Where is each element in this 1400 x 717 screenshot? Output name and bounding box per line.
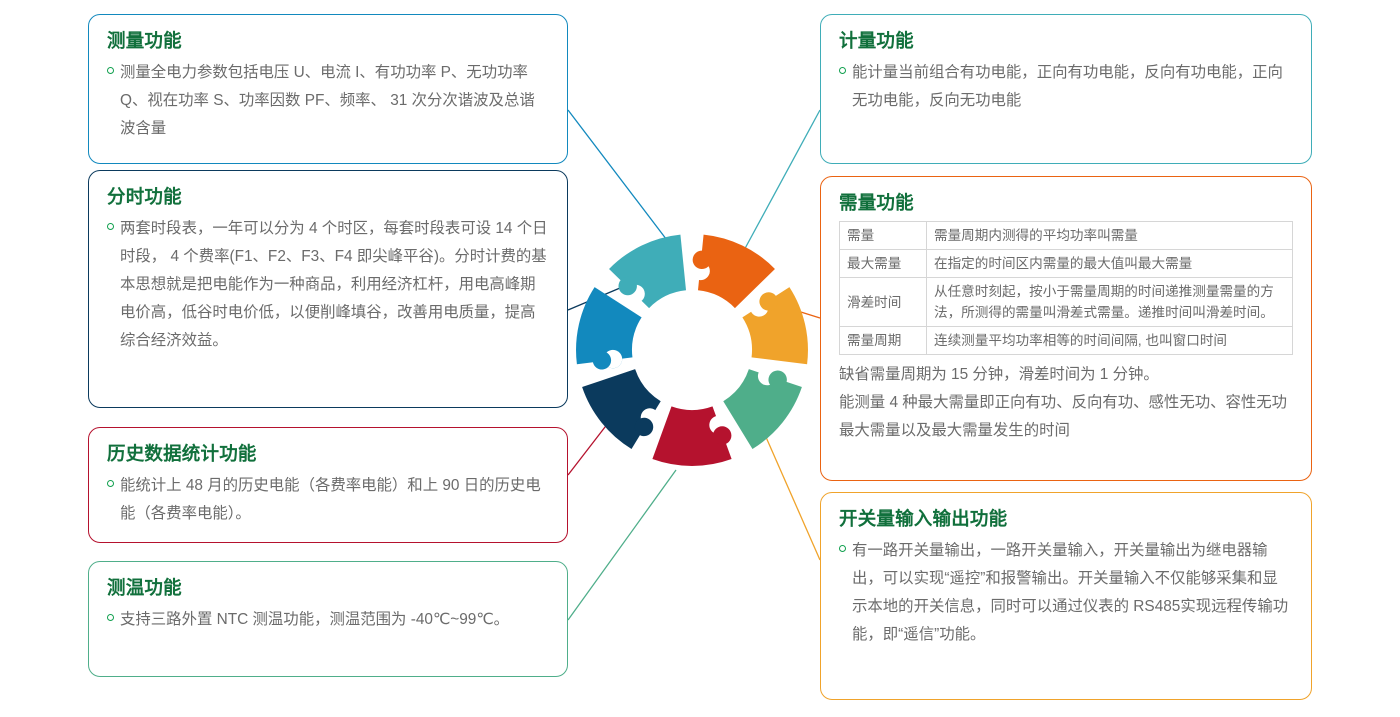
bullet-icon xyxy=(839,545,846,552)
bullet-icon xyxy=(107,614,114,621)
panel-metering-bullet: 能计量当前组合有功电能，正向有功电能，反向有功电能，正向无功电能，反向无功电能 xyxy=(839,59,1293,115)
infographic-canvas: 测量功能 测量全电力参数包括电压 U、电流 I、有功功率 P、无功功率 Q、视在… xyxy=(0,0,1400,717)
table-row: 需量周期 连续测量平均功率相等的时间间隔, 也叫窗口时间 xyxy=(840,327,1293,355)
panel-digital-io[interactable]: 开关量输入输出功能 有一路开关量输出，一路开关量输入，开关量输出为继电器输出，可… xyxy=(820,492,1312,700)
panel-temperature-bullet: 支持三路外置 NTC 测温功能，测温范围为 -40℃~99℃。 xyxy=(107,606,549,634)
panel-metering-title: 计量功能 xyxy=(839,29,1293,52)
piece-amber xyxy=(738,286,814,376)
panel-digital-io-bullet: 有一路开关量输出，一路开关量输入，开关量输出为继电器输出，可以实现“遥控”和报警… xyxy=(839,537,1293,649)
bullet-icon xyxy=(107,223,114,230)
piece-crimson xyxy=(652,406,731,466)
demand-definition: 需量周期内测得的平均功率叫需量 xyxy=(927,222,1293,250)
panel-history-statistics[interactable]: 历史数据统计功能 能统计上 48 月的历史电能（各费率电能）和上 90 日的历史… xyxy=(88,427,568,543)
panel-temperature-title: 测温功能 xyxy=(107,576,549,599)
table-row: 滑差时间 从任意时刻起，按小于需量周期的时间递推测量需量的方法，所测得的需量叫滑… xyxy=(840,278,1293,327)
panel-measure-title: 测量功能 xyxy=(107,29,549,52)
panel-demand-note-1: 缺省需量周期为 15 分钟，滑差时间为 1 分钟。 xyxy=(839,361,1293,389)
demand-definition: 从任意时刻起，按小于需量周期的时间递推测量需量的方法，所测得的需量叫滑差式需量。… xyxy=(927,278,1293,327)
bullet-icon xyxy=(107,480,114,487)
panel-metering-text: 能计量当前组合有功电能，正向有功电能，反向有功电能，正向无功电能，反向无功电能 xyxy=(852,59,1293,115)
panel-measure[interactable]: 测量功能 测量全电力参数包括电压 U、电流 I、有功功率 P、无功功率 Q、视在… xyxy=(88,14,568,164)
panel-history-statistics-bullet: 能统计上 48 月的历史电能（各费率电能）和上 90 日的历史电能（各费率电能）… xyxy=(107,472,549,528)
panel-digital-io-title: 开关量输入输出功能 xyxy=(839,507,1293,530)
bullet-icon xyxy=(839,67,846,74)
piece-navy xyxy=(577,354,673,453)
demand-definition: 连续测量平均功率相等的时间间隔, 也叫窗口时间 xyxy=(927,327,1293,355)
panel-measure-text: 测量全电力参数包括电压 U、电流 I、有功功率 P、无功功率 Q、视在功率 S、… xyxy=(120,59,549,143)
demand-term: 需量 xyxy=(840,222,927,250)
table-row: 最大需量 在指定的时间区内需量的最大值叫最大需量 xyxy=(840,250,1293,278)
panel-demand-title: 需量功能 xyxy=(839,191,1293,214)
panel-measure-bullet: 测量全电力参数包括电压 U、电流 I、有功功率 P、无功功率 Q、视在功率 S、… xyxy=(107,59,549,143)
panel-time-of-use-title: 分时功能 xyxy=(107,185,549,208)
demand-term: 滑差时间 xyxy=(840,278,927,327)
puzzle-ring-diagram xyxy=(570,228,814,472)
demand-definition: 在指定的时间区内需量的最大值叫最大需量 xyxy=(927,250,1293,278)
panel-history-statistics-text: 能统计上 48 月的历史电能（各费率电能）和上 90 日的历史电能（各费率电能）… xyxy=(120,472,549,528)
panel-demand-note-2: 能测量 4 种最大需量即正向有功、反向有功、感性无功、容性无功最大需量以及最大需… xyxy=(839,389,1293,445)
bullet-icon xyxy=(107,67,114,74)
panel-demand[interactable]: 需量功能 需量 需量周期内测得的平均功率叫需量 最大需量 在指定的时间区内需量的… xyxy=(820,176,1312,481)
panel-digital-io-text: 有一路开关量输出，一路开关量输入，开关量输出为继电器输出，可以实现“遥控”和报警… xyxy=(852,537,1293,649)
panel-time-of-use-text: 两套时段表，一年可以分为 4 个时区，每套时段表可设 14 个日时段， 4 个费… xyxy=(120,215,549,355)
connector-temperature xyxy=(568,470,676,620)
panel-time-of-use[interactable]: 分时功能 两套时段表，一年可以分为 4 个时区，每套时段表可设 14 个日时段，… xyxy=(88,170,568,408)
demand-term: 最大需量 xyxy=(840,250,927,278)
table-row: 需量 需量周期内测得的平均功率叫需量 xyxy=(840,222,1293,250)
panel-metering[interactable]: 计量功能 能计量当前组合有功电能，正向有功电能，反向有功电能，正向无功电能，反向… xyxy=(820,14,1312,164)
demand-definition-table: 需量 需量周期内测得的平均功率叫需量 最大需量 在指定的时间区内需量的最大值叫最… xyxy=(839,221,1293,355)
panel-time-of-use-bullet: 两套时段表，一年可以分为 4 个时区，每套时段表可设 14 个日时段， 4 个费… xyxy=(107,215,549,355)
demand-term: 需量周期 xyxy=(840,327,927,355)
panel-temperature[interactable]: 测温功能 支持三路外置 NTC 测温功能，测温范围为 -40℃~99℃。 xyxy=(88,561,568,677)
panel-temperature-text: 支持三路外置 NTC 测温功能，测温范围为 -40℃~99℃。 xyxy=(120,606,549,634)
panel-history-statistics-title: 历史数据统计功能 xyxy=(107,442,549,465)
piece-teal xyxy=(606,228,703,316)
